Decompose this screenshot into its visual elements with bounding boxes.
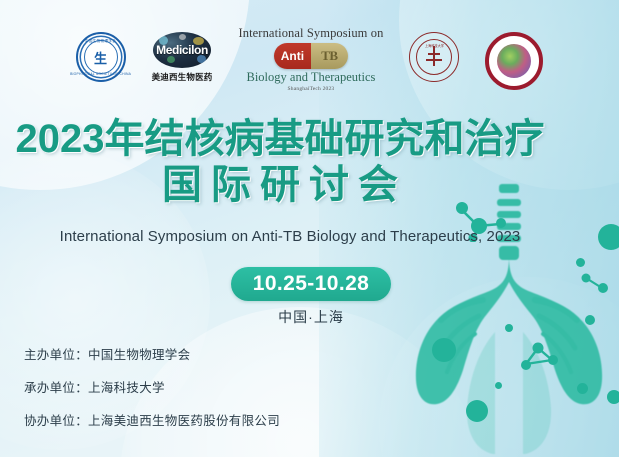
shanghaitech-tower-icon: [433, 46, 435, 66]
logo-biophysical-society: 中国生物物理学会 生 BIOPHYSICAL SOCIETY OF CHINA: [76, 32, 126, 82]
logo-bsc-seal: [485, 32, 543, 90]
molecule-icon-lower: [516, 338, 564, 376]
decorative-dot-small-c: [577, 383, 588, 394]
organizer-list: 主办单位：中国生物物理学会 承办单位：上海科技大学 协办单位：上海美迪西生物医药…: [24, 344, 280, 429]
conference-poster: 中国生物物理学会 生 BIOPHYSICAL SOCIETY OF CHINA …: [0, 0, 619, 457]
capsule-tb-label: TB: [311, 43, 348, 69]
page-title-line-2: 国际研讨会: [0, 164, 560, 206]
bsc-seal-inner: [497, 44, 531, 78]
molecule-icon-right: [580, 268, 619, 304]
poster-subtitle-english: International Symposium on Anti-TB Biolo…: [0, 228, 580, 245]
sponsor-logo-row: 中国生物物理学会 生 BIOPHYSICAL SOCIETY OF CHINA …: [0, 32, 619, 104]
medicilon-wordmark: Medicilon: [156, 43, 208, 57]
decorative-dot-small-a: [505, 324, 513, 332]
decorative-dot-small-f: [607, 390, 619, 404]
seal-ring-text-top: 中国生物物理学会: [85, 39, 116, 44]
seal-monogram: 生: [84, 40, 118, 74]
capsule-anti-label: Anti: [274, 43, 311, 69]
decorative-dot-small-e: [585, 315, 595, 325]
lungs-icon: [383, 182, 619, 457]
bsc-seal-icon: [485, 32, 543, 90]
organizer-host: 主办单位：中国生物物理学会: [24, 344, 280, 363]
page-title-line-1: 2023年结核病基础研究和治疗: [0, 118, 560, 160]
decorative-dot-large-left: [432, 338, 456, 362]
symposium-line-tiny: ShanghaiTech 2023: [288, 86, 335, 92]
event-location: 中国·上海: [231, 307, 391, 327]
organizer-undertaker: 承办单位：上海科技大学: [24, 377, 280, 396]
organizer-coorganizer: 协办单位：上海美迪西生物医药股份有限公司: [24, 410, 280, 429]
medicilon-chinese-name: 美迪西生物医药: [152, 71, 213, 83]
decorative-dot-bottom-left: [466, 400, 488, 422]
logo-medicilon: Medicilon 美迪西生物医药: [152, 32, 213, 83]
logo-symposium: International Symposium on Anti TB Biolo…: [238, 26, 383, 92]
biophysical-society-seal-icon: 中国生物物理学会 生 BIOPHYSICAL SOCIETY OF CHINA: [76, 32, 126, 82]
shanghaitech-seal-icon: 上海科技大学: [409, 32, 459, 82]
medicilon-mark-icon: Medicilon: [153, 32, 211, 68]
anti-tb-capsule-icon: Anti TB: [274, 43, 348, 69]
decorative-dot-large-right: [598, 224, 619, 250]
logo-shanghaitech: 上海科技大学: [409, 32, 459, 82]
background-blob-bottom-right: [379, 277, 619, 457]
symposium-line-bottom: Biology and Therapeutics: [246, 70, 375, 85]
symposium-line-top: International Symposium on: [238, 26, 383, 41]
poster-title-block: 2023年结核病基础研究和治疗 国际研讨会: [0, 118, 560, 207]
decorative-dot-small-d: [576, 258, 585, 267]
shanghaitech-seal-inner: 上海科技大学: [416, 39, 452, 75]
seal-ring-text-bottom: BIOPHYSICAL SOCIETY OF CHINA: [70, 72, 131, 76]
decorative-dot-small-b: [495, 382, 502, 389]
event-date-badge: 10.25-10.28: [231, 267, 391, 301]
